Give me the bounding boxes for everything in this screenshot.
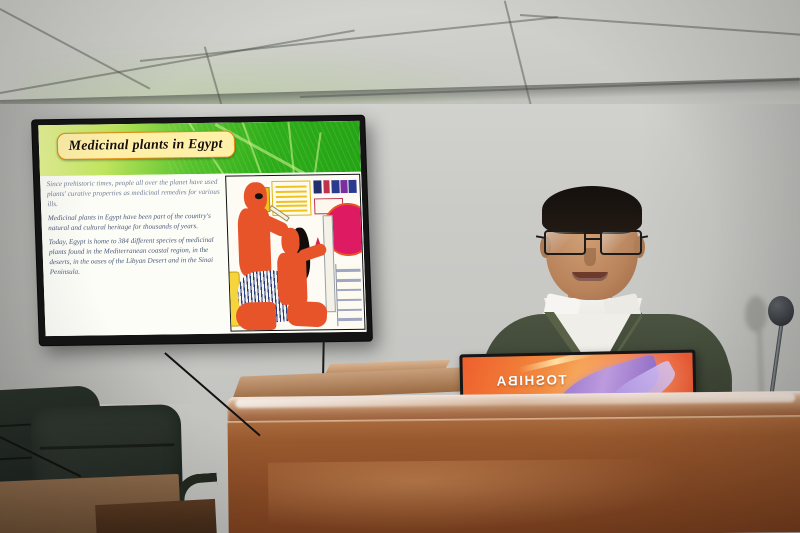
ceiling-grid-line xyxy=(520,14,800,43)
seated-figure-head-icon xyxy=(281,228,301,254)
figure-eye-icon xyxy=(254,193,262,199)
seated-figure-leg-icon xyxy=(286,301,327,328)
slide-header-banner: Medicinal plants in Egypt xyxy=(38,121,361,176)
slide-title-box: Medicinal plants in Egypt xyxy=(56,130,235,159)
color-swatch xyxy=(331,180,339,194)
color-swatch xyxy=(314,180,322,194)
podium-sheen xyxy=(268,458,689,532)
photo-scene: Medicinal plants in Egypt Since prehisto… xyxy=(0,0,800,533)
wall-mounted-tv[interactable]: Medicinal plants in Egypt Since prehisto… xyxy=(32,116,372,345)
lens-left xyxy=(544,230,586,255)
glasses-temple-left xyxy=(536,235,544,239)
microphone-shadow xyxy=(745,296,767,332)
laptop-brand-label: TOSHIBA xyxy=(495,373,567,389)
glasses-temple-right xyxy=(640,235,648,239)
presentation-slide: Medicinal plants in Egypt Since prehisto… xyxy=(38,121,366,336)
slide-title: Medicinal plants in Egypt xyxy=(68,136,223,153)
mouth-smile xyxy=(572,272,608,281)
eyeglasses-icon xyxy=(542,230,642,252)
egyptian-painting-illustration xyxy=(225,174,366,332)
color-swatch xyxy=(323,180,330,194)
ladder-pattern-icon xyxy=(335,264,362,326)
tv-screen: Medicinal plants in Egypt Since prehisto… xyxy=(38,121,366,336)
wooden-podium xyxy=(227,391,800,533)
slide-paragraph: Medicinal plants in Egypt have been part… xyxy=(48,211,222,234)
lens-right xyxy=(600,230,642,255)
slide-paragraph: Today, Egypt is home to 384 different sp… xyxy=(49,235,224,278)
glasses-bridge xyxy=(584,238,600,240)
microphone-icon[interactable] xyxy=(768,296,794,326)
slide-paragraph: Since prehistoric times, people all over… xyxy=(47,177,221,210)
figure-leg-icon xyxy=(235,302,276,330)
foreground-table-edge xyxy=(95,499,217,533)
color-swatch xyxy=(348,179,356,193)
color-swatch xyxy=(340,180,347,194)
podium-front-panel xyxy=(228,417,800,533)
slide-text-block: Since prehistoric times, people all over… xyxy=(47,177,224,282)
podium-gloss-highlight xyxy=(235,393,795,408)
slide-body: Since prehistoric times, people all over… xyxy=(40,171,367,336)
